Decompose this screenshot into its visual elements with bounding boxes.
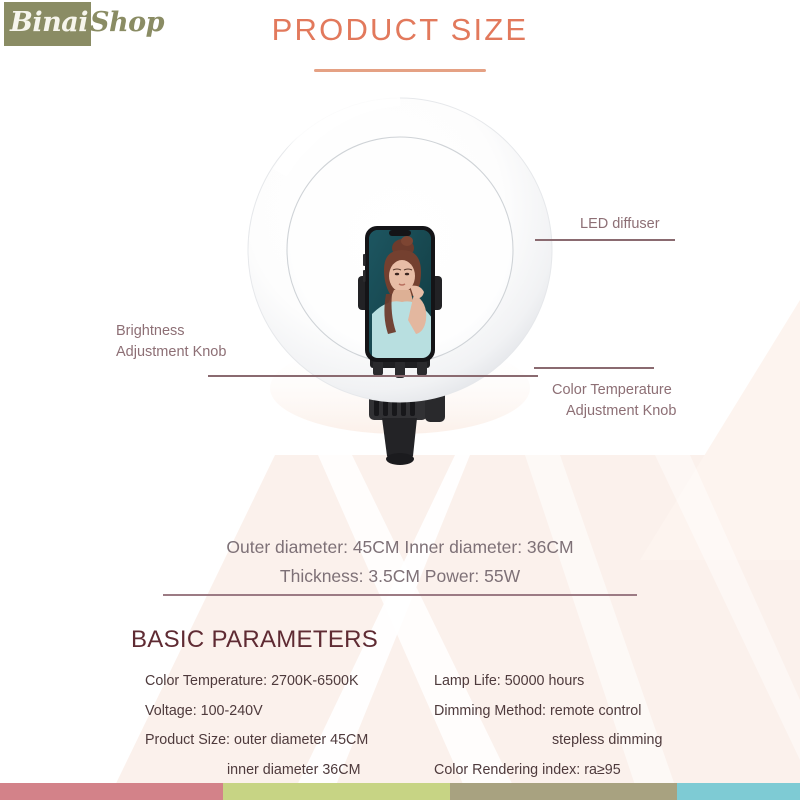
- callout-brightness-knob: Brightness Adjustment Knob: [116, 321, 226, 363]
- footer-strip-block: [677, 783, 800, 800]
- param-voltage: Voltage: 100-240V: [145, 697, 368, 727]
- footer-strip-block: [0, 783, 223, 800]
- basic-parameters-left-column: Color Temperature: 2700K-6500K Voltage: …: [145, 667, 368, 785]
- callout-color-temperature-knob: Color Temperature Adjustment Knob: [552, 380, 676, 422]
- param-color-temperature: Color Temperature: 2700K-6500K: [145, 667, 368, 697]
- basic-parameters-right-column: Lamp Life: 50000 hours Dimming Method: r…: [434, 667, 662, 785]
- footer-strip-block: [450, 783, 677, 800]
- callout-color-temp-line2: Adjustment Knob: [552, 401, 676, 422]
- param-product-size-cont: inner diameter 36CM: [145, 756, 368, 786]
- param-dimming-method: Dimming Method: remote control: [434, 697, 662, 727]
- callout-brightness-line2: Adjustment Knob: [116, 342, 226, 363]
- dimensions-block: Outer diameter: 45CM Inner diameter: 36C…: [0, 533, 800, 591]
- basic-parameters-heading: BASIC PARAMETERS: [131, 624, 378, 656]
- param-lamp-life: Lamp Life: 50000 hours: [434, 667, 662, 697]
- dimensions-line-1: Outer diameter: 45CM Inner diameter: 36C…: [0, 533, 800, 562]
- footer-strip-block: [223, 783, 450, 800]
- param-color-rendering-index: Color Rendering index: ra≥95: [434, 756, 662, 786]
- param-dimming-method-cont: stepless dimming: [434, 726, 662, 756]
- param-product-size: Product Size: outer diameter 45CM: [145, 726, 368, 756]
- dimensions-divider: [163, 594, 637, 596]
- led-diffuser-leader-line: [535, 239, 675, 241]
- callout-led-diffuser-label: LED diffuser: [580, 216, 660, 232]
- color-temperature-knob-leader-line: [534, 367, 654, 369]
- phone-screen-photo: [369, 230, 432, 360]
- title-underline: [314, 69, 486, 72]
- callout-color-temp-line1: Color Temperature: [552, 380, 676, 401]
- brightness-knob-leader-line: [208, 375, 538, 377]
- smartphone: [363, 226, 435, 362]
- dimensions-line-2: Thickness: 3.5CM Power: 55W: [0, 562, 800, 591]
- page-header: PRODUCT SIZE: [0, 10, 800, 72]
- callout-led-diffuser: LED diffuser: [580, 214, 660, 235]
- infographic-page: BinaiShop PRODUCT SIZE: [0, 0, 800, 800]
- footer-color-strip: [0, 783, 800, 800]
- page-title: PRODUCT SIZE: [0, 10, 800, 50]
- ring-light-product-image: [232, 88, 568, 508]
- callout-brightness-line1: Brightness: [116, 321, 226, 342]
